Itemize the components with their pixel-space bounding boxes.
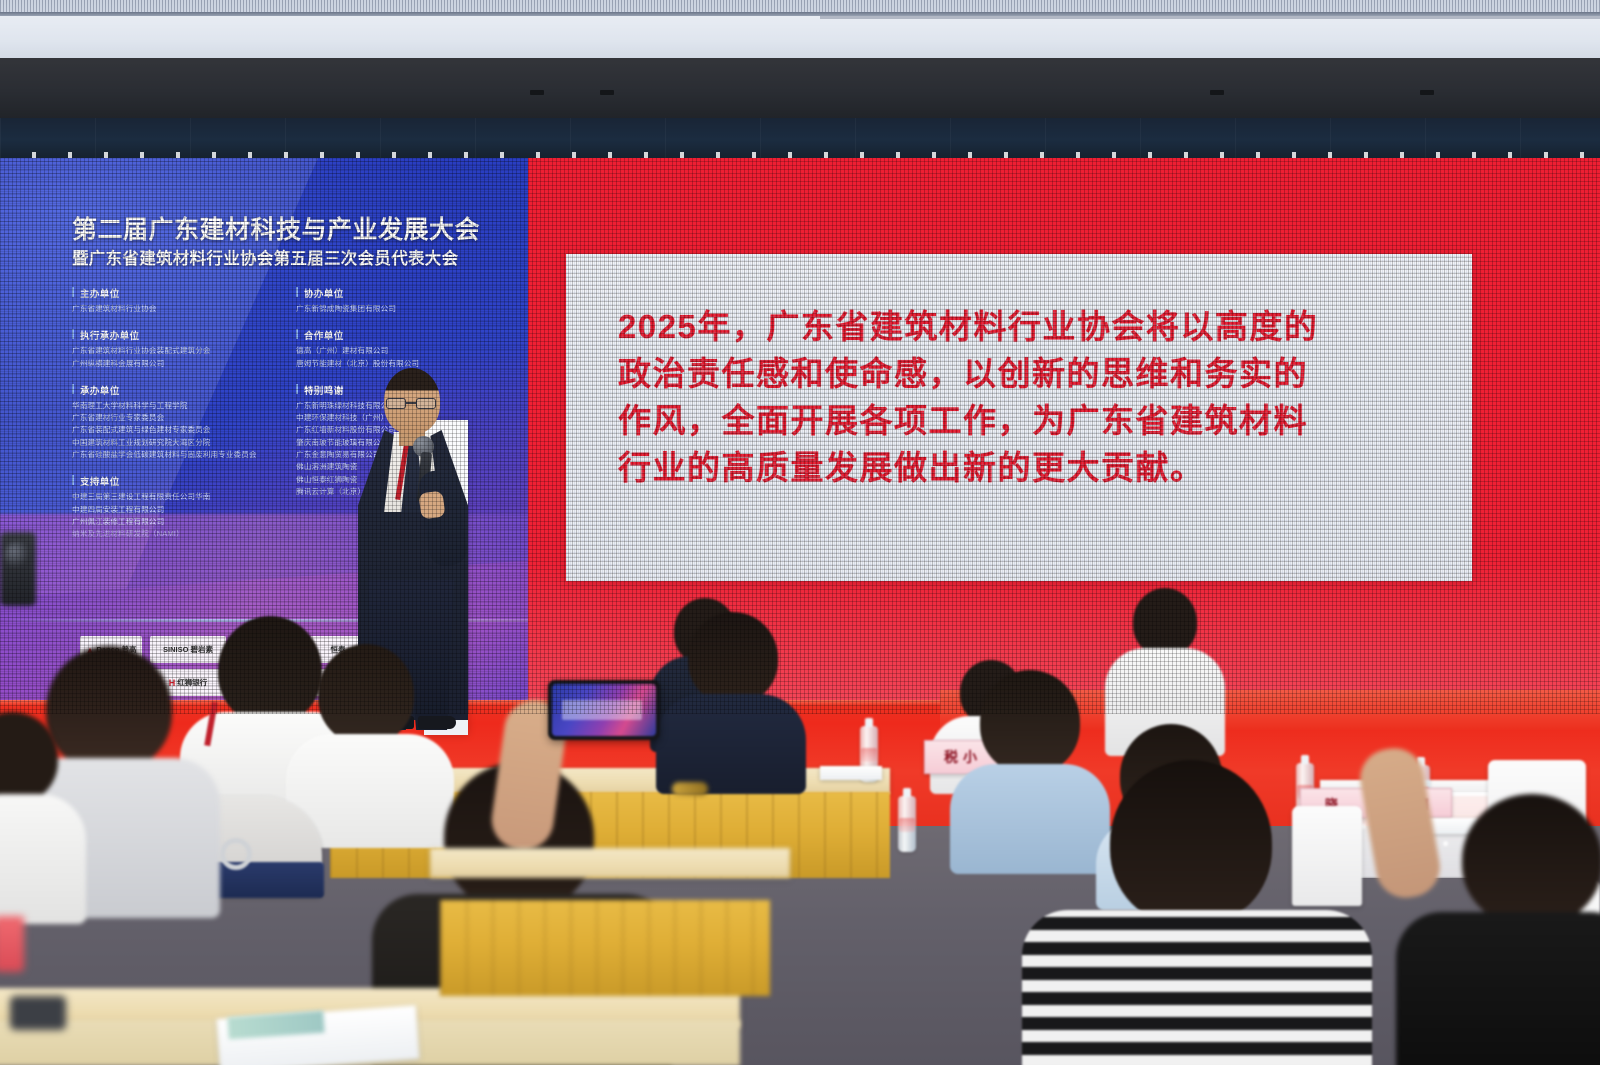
audience-member-striped <box>1022 760 1372 1065</box>
conference-photo-scene: 第二届广东建材科技与产业发展大会 暨广东省建筑材料行业协会第五届三次会员代表大会… <box>0 0 1600 1065</box>
slide-content-panel: 2025年，广东省建筑材料行业协会将以高度的 政治责任感和使命感，以创新的思维和… <box>566 254 1472 581</box>
foreground-table-skirt <box>440 900 770 996</box>
eyeglasses-icon <box>385 398 439 409</box>
audience-member <box>0 712 76 912</box>
audience-member <box>1396 794 1600 1065</box>
audience-member <box>656 612 806 782</box>
chair-ring-handle <box>220 838 252 870</box>
ceiling-white-band <box>0 16 1600 58</box>
video-camera <box>0 532 36 606</box>
mid-table-top <box>430 848 790 878</box>
bracelet <box>672 782 708 796</box>
cup <box>0 916 24 972</box>
ceiling-perforated-panel <box>0 0 1600 12</box>
smartphone <box>548 680 660 740</box>
notepad <box>820 766 882 780</box>
speaker-hand <box>418 490 445 519</box>
water-bottle <box>898 796 916 852</box>
ceiling-dark-fascia <box>0 58 1600 118</box>
smartphone <box>10 996 66 1030</box>
